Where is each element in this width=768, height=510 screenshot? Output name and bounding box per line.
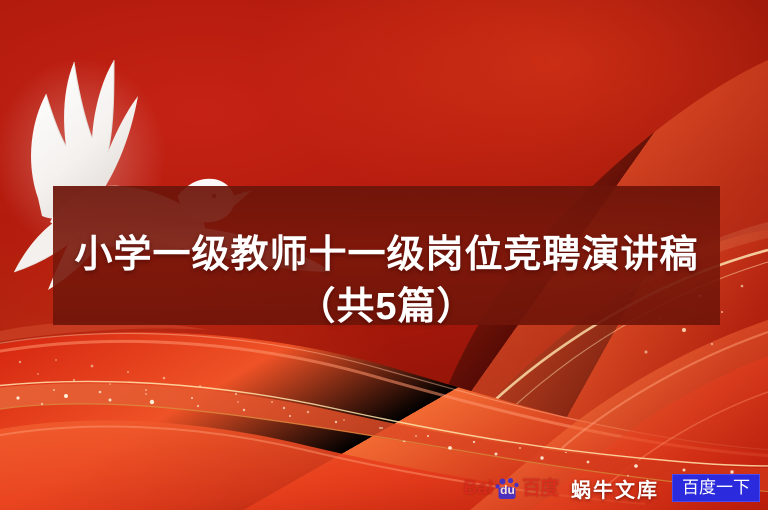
baidu-paw-icon: du [495,477,520,499]
footer-watermark: Bai du 百度 蜗牛文库 百度一下 [0,466,768,510]
baidu-logo-latin: Bai [463,479,493,498]
page-title: 小学一级教师十一级岗位竞聘演讲稿（共5篇） [53,211,720,350]
poster-canvas: 小学一级教师十一级岗位竞聘演讲稿（共5篇） Bai du 百度 蜗牛文库 百度一… [0,0,768,510]
site-watermark-text: 蜗牛文库 [571,474,659,503]
baidu-paw-label: du [495,483,520,497]
baidu-logo[interactable]: Bai du 百度 [463,477,558,499]
baidu-logo-hanzi: 百度 [522,479,558,498]
baidu-search-button[interactable]: 百度一下 [672,474,760,503]
sparkle-dots-secondary [19,359,417,437]
